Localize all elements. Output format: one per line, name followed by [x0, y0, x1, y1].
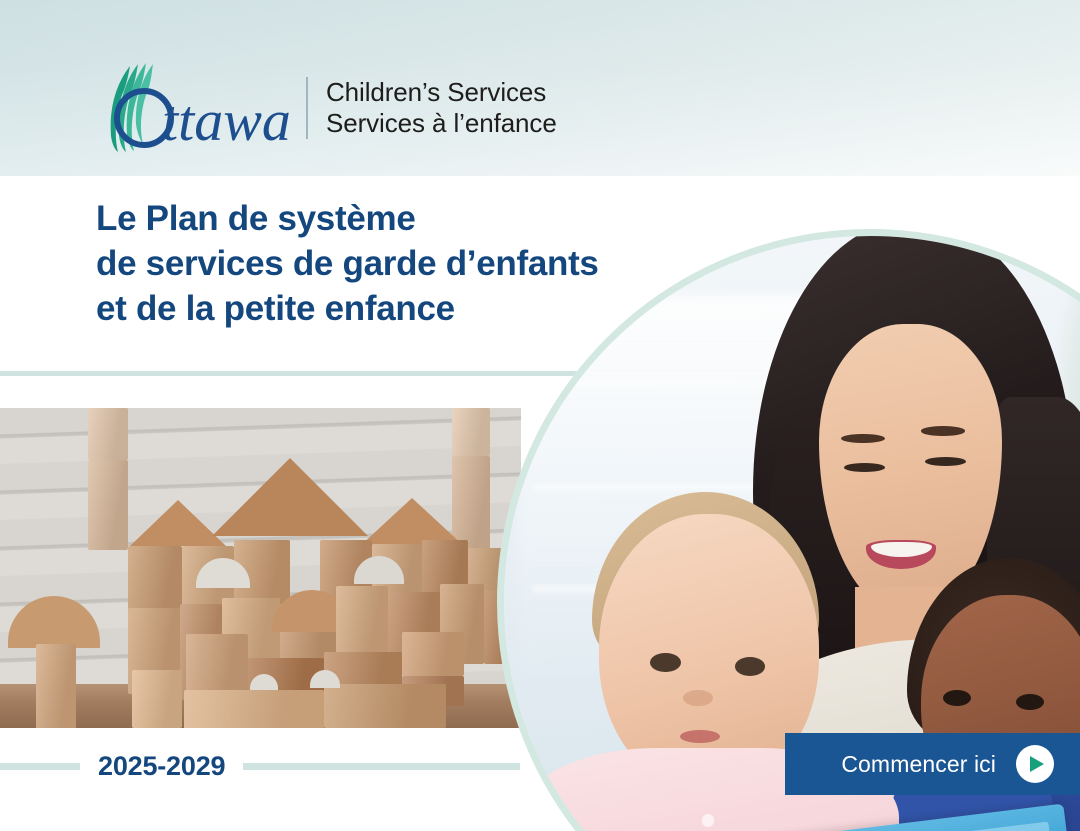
year-rule-right	[243, 763, 520, 770]
title-line-2: de services de garde d’enfants	[96, 241, 716, 286]
ottawa-logo[interactable]: ttawa Children’s Services Services à l’e…	[96, 62, 557, 154]
blocks-photo	[0, 408, 521, 728]
tagline-line-fr: Services à l’enfance	[326, 108, 557, 139]
logo-tagline: Children’s Services Services à l’enfance	[326, 77, 557, 139]
ottawa-logo-icon: ttawa	[96, 62, 292, 154]
year-label: 2025-2029	[80, 751, 243, 782]
svg-text:ttawa: ttawa	[162, 88, 291, 153]
cover-page: ttawa Children’s Services Services à l’e…	[0, 0, 1080, 831]
play-triangle-icon	[1016, 745, 1054, 783]
tagline-line-en: Children’s Services	[326, 77, 557, 108]
page-title: Le Plan de système de services de garde …	[96, 196, 716, 331]
start-here-label: Commencer ici	[841, 751, 996, 778]
title-line-1: Le Plan de système	[96, 196, 716, 241]
title-line-3: et de la petite enfance	[96, 286, 716, 331]
year-rule-left	[0, 763, 80, 770]
year-range: 2025-2029	[0, 748, 520, 784]
logo-divider	[306, 77, 308, 139]
start-here-button[interactable]: Commencer ici	[785, 733, 1080, 795]
